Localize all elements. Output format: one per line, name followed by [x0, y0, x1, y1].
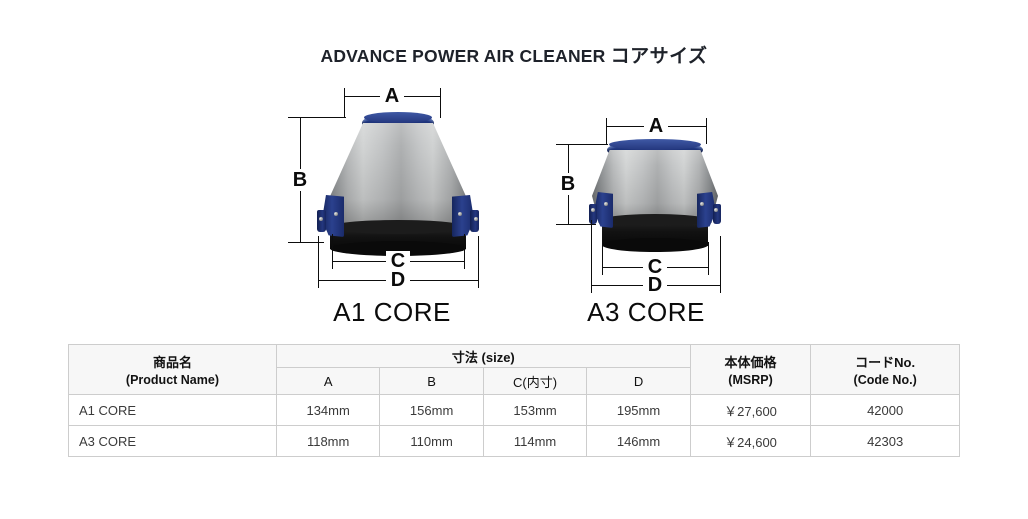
cell-size-a: 118mm: [276, 426, 379, 457]
header-product-name-jp: 商品名: [153, 355, 192, 370]
screw-icon: [334, 212, 338, 216]
blue-top-ring-inner: [364, 112, 432, 123]
header-code-jp: コードNo.: [855, 355, 915, 370]
dimension-cap-d-right: [720, 277, 721, 293]
header-size-a: A: [276, 368, 379, 395]
dimension-cap-c-right: [464, 253, 465, 269]
header-code: コードNo. (Code No.): [811, 345, 960, 395]
dimension-cap-c-left: [332, 253, 333, 269]
black-base-top: [602, 214, 708, 226]
screw-icon: [474, 217, 478, 221]
header-product-name-en: (Product Name): [69, 373, 276, 387]
cell-size-d: 146mm: [587, 426, 690, 457]
screw-icon: [319, 217, 323, 221]
dimension-label-d: D: [386, 270, 410, 290]
bracket-right-tab: [713, 204, 721, 224]
black-base-bottom: [602, 238, 708, 252]
figure-a1-core: A B C D A1 CORE: [282, 84, 502, 334]
dimension-label-d: D: [643, 275, 667, 295]
screw-icon: [714, 208, 718, 212]
cell-size-c: 114mm: [483, 426, 586, 457]
metal-cone-body: [322, 123, 474, 229]
cell-size-b: 110mm: [380, 426, 483, 457]
dimension-cap-c-right: [708, 259, 709, 275]
screw-icon: [700, 202, 704, 206]
page-title-japanese: コアサイズ: [611, 46, 708, 67]
product-image-a1-core: [322, 113, 474, 254]
dimension-cap-b-top: [560, 144, 576, 145]
cell-price: ￥24,600: [690, 426, 811, 457]
header-price-jp: 本体価格: [725, 355, 777, 370]
cell-product-name: A3 CORE: [69, 426, 277, 457]
dimension-cap-a-right: [706, 118, 707, 134]
dimension-label-b: B: [557, 173, 579, 195]
header-size-d: D: [587, 368, 690, 395]
cell-size-a: 134mm: [276, 395, 379, 426]
table-header-row-1: 商品名 (Product Name) 寸法 (size) 本体価格 (MSRP)…: [69, 345, 960, 368]
core-label-a3: A3 CORE: [548, 297, 744, 328]
cell-price: ￥27,600: [690, 395, 811, 426]
dimension-cap-a-left: [606, 118, 607, 134]
header-price-en: (MSRP): [691, 373, 811, 387]
table-row: A1 CORE 134mm 156mm 153mm 195mm ￥27,600 …: [69, 395, 960, 426]
product-image-a3-core: [592, 140, 718, 258]
page-title-english: ADVANCE POWER AIR CLEANER: [320, 46, 605, 66]
dimension-cap-d-left: [318, 272, 319, 288]
black-base-top: [330, 220, 466, 234]
bracket-right-tab: [470, 210, 479, 232]
dimension-cap-a-left: [344, 88, 345, 104]
dimension-cap-d-right: [478, 272, 479, 288]
blue-top-ring-inner: [609, 139, 701, 150]
dimension-cap-b-bottom: [292, 242, 308, 243]
screw-icon: [591, 208, 595, 212]
spec-table: 商品名 (Product Name) 寸法 (size) 本体価格 (MSRP)…: [68, 344, 960, 457]
cell-product-name: A1 CORE: [69, 395, 277, 426]
header-price: 本体価格 (MSRP): [690, 345, 811, 395]
dimension-cap-b-bottom: [560, 224, 576, 225]
header-size-c: C(内寸): [483, 368, 586, 395]
dimension-cap-d-left: [591, 277, 592, 293]
dimension-cap-b-top: [292, 117, 308, 118]
page-title: ADVANCE POWER AIR CLEANER コアサイズ: [0, 41, 1028, 68]
dimension-cap-a-right: [440, 88, 441, 104]
header-code-en: (Code No.): [811, 373, 959, 387]
cell-size-d: 195mm: [587, 395, 690, 426]
figure-a3-core: A B C D A3 CORE: [548, 112, 744, 334]
dimension-label-a: A: [380, 86, 404, 106]
core-label-a1: A1 CORE: [282, 297, 502, 328]
cell-size-c: 153mm: [483, 395, 586, 426]
dimension-label-c: C: [386, 251, 410, 271]
screw-icon: [604, 202, 608, 206]
bracket-left-tab: [317, 210, 326, 232]
header-product-name: 商品名 (Product Name): [69, 345, 277, 395]
cell-code: 42303: [811, 426, 960, 457]
cell-size-b: 156mm: [380, 395, 483, 426]
dimension-cap-c-left: [602, 259, 603, 275]
header-size-b: B: [380, 368, 483, 395]
cell-code: 42000: [811, 395, 960, 426]
dimension-label-b: B: [289, 169, 311, 191]
dimension-label-a: A: [644, 116, 668, 136]
header-size-group: 寸法 (size): [276, 345, 690, 368]
table-row: A3 CORE 118mm 110mm 114mm 146mm ￥24,600 …: [69, 426, 960, 457]
screw-icon: [458, 212, 462, 216]
